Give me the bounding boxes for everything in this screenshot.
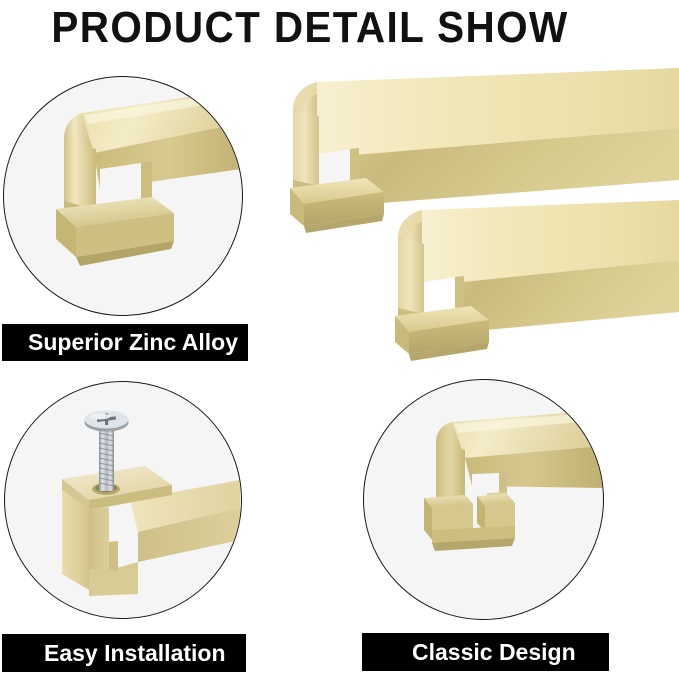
- caption-label: Easy Installation: [44, 640, 226, 667]
- handle-lower: [395, 200, 679, 361]
- caption-classic-design: Classic Design: [362, 633, 609, 671]
- product-hero-image: [262, 68, 679, 380]
- caption-easy-installation: Easy Installation: [2, 634, 246, 672]
- detail-circle-easy-installation: [4, 381, 242, 619]
- cabinet-pull-with-screw-illustration: [5, 382, 240, 617]
- page-title: PRODUCT DETAIL SHOW: [25, 2, 595, 54]
- caption-label: Superior Zinc Alloy: [28, 329, 238, 356]
- cabinet-pull-end-closeup-illustration: [4, 77, 241, 314]
- product-detail-page: PRODUCT DETAIL SHOW: [0, 0, 679, 675]
- caption-superior-zinc-alloy: Superior Zinc Alloy: [2, 324, 248, 361]
- caption-label: Classic Design: [412, 639, 576, 666]
- cabinet-pull-profile-illustration: [364, 380, 602, 618]
- detail-circle-superior-zinc-alloy: [3, 76, 243, 316]
- detail-circle-classic-design: [363, 379, 604, 620]
